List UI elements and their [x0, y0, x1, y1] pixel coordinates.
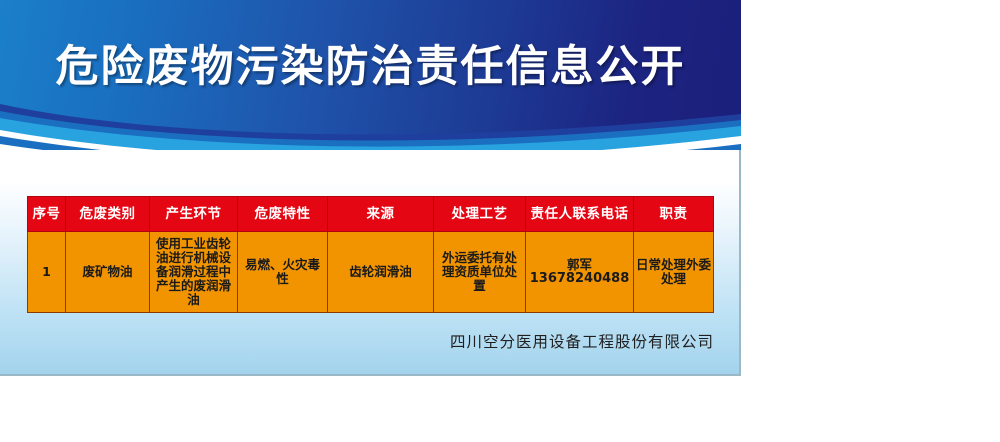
responsible-person-name: 郭军 — [528, 258, 631, 272]
hazardous-waste-table: 序号 危废类别 产生环节 危废特性 来源 处理工艺 责任人联系电话 职责 1 废… — [27, 196, 714, 313]
cell-treatment: 外运委托有处理资质单位处置 — [434, 232, 526, 313]
cell-source: 齿轮润滑油 — [328, 232, 434, 313]
cell-stage: 使用工业齿轮油进行机械设备润滑过程中产生的废润滑油 — [150, 232, 238, 313]
table-header-row: 序号 危废类别 产生环节 危废特性 来源 处理工艺 责任人联系电话 职责 — [28, 197, 714, 232]
company-name: 四川空分医用设备工程股份有限公司 — [0, 332, 714, 352]
table-row: 1 废矿物油 使用工业齿轮油进行机械设备润滑过程中产生的废润滑油 易燃、火灾毒性… — [28, 232, 714, 313]
responsible-person-phone: 13678240488 — [528, 272, 631, 286]
cell-contact: 郭军 13678240488 — [526, 232, 634, 313]
cell-index: 1 — [28, 232, 66, 313]
poster-content-area: 序号 危废类别 产生环节 危废特性 来源 处理工艺 责任人联系电话 职责 1 废… — [0, 150, 741, 376]
column-header-source: 来源 — [328, 197, 434, 232]
poster-banner: 危险废物污染防治责任信息公开 — [0, 0, 741, 160]
cell-property: 易燃、火灾毒性 — [238, 232, 328, 313]
column-header-treatment: 处理工艺 — [434, 197, 526, 232]
column-header-stage: 产生环节 — [150, 197, 238, 232]
information-disclosure-poster: 危险废物污染防治责任信息公开 序号 危废类别 产生环节 危废特性 来源 处理工艺… — [0, 0, 741, 376]
cell-duty: 日常处理外委处理 — [634, 232, 714, 313]
cell-category: 废矿物油 — [66, 232, 150, 313]
column-header-duty: 职责 — [634, 197, 714, 232]
page-title: 危险废物污染防治责任信息公开 — [0, 42, 741, 92]
column-header-property: 危废特性 — [238, 197, 328, 232]
column-header-contact: 责任人联系电话 — [526, 197, 634, 232]
column-header-category: 危废类别 — [66, 197, 150, 232]
column-header-index: 序号 — [28, 197, 66, 232]
